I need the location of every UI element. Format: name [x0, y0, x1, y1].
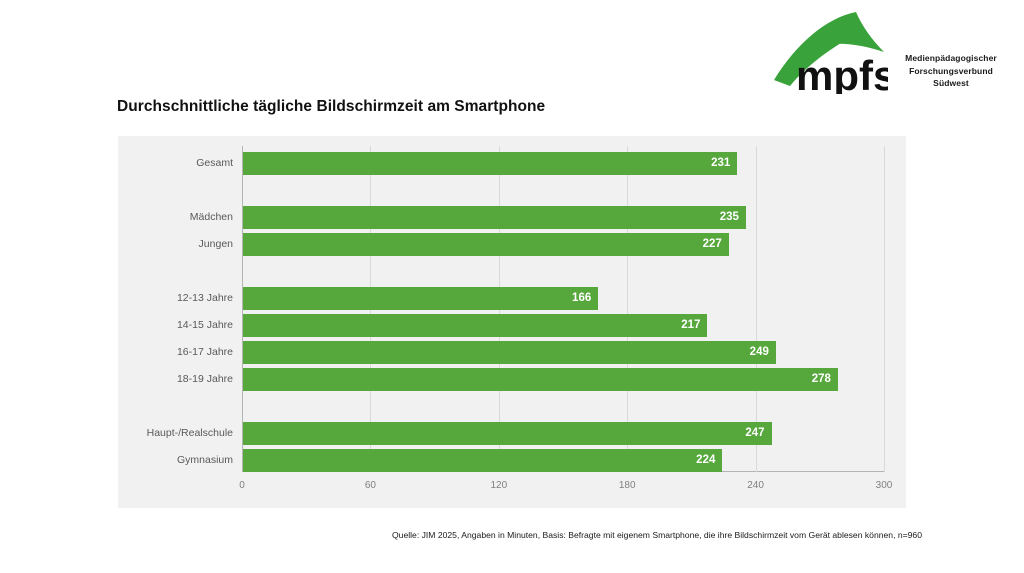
bar[interactable]: 227 — [243, 233, 729, 256]
x-axis-tick-label: 240 — [747, 480, 764, 491]
logo-subtitle-line-3: Südwest — [892, 77, 1010, 90]
chart-title: Durchschnittliche tägliche Bildschirmzei… — [117, 98, 545, 116]
bar[interactable]: 217 — [243, 314, 707, 337]
gridline — [884, 146, 885, 472]
bar[interactable]: 235 — [243, 206, 746, 229]
mpfs-arc-logo: mpfs — [770, 8, 888, 94]
mpfs-logo: mpfs Medienpädagogischer Forschungsverbu… — [770, 8, 1010, 94]
bar-value-label: 166 — [572, 287, 591, 310]
category-label: 12-13 Jahre — [177, 287, 233, 310]
category-label: Gymnasium — [177, 449, 233, 472]
x-axis-tick-label: 60 — [365, 480, 376, 491]
bar[interactable]: 166 — [243, 287, 598, 310]
logo-subtitle-line-2: Forschungsverbund — [892, 65, 1010, 78]
category-label: Haupt-/Realschule — [147, 422, 233, 445]
bar-row: 18-19 Jahre278 — [242, 368, 884, 391]
bar-row: Jungen227 — [242, 233, 884, 256]
bar-row: Gesamt231 — [242, 152, 884, 175]
bar-row: Gymnasium224 — [242, 449, 884, 472]
logo-wordmark: mpfs — [796, 52, 888, 94]
bar-row: 14-15 Jahre217 — [242, 314, 884, 337]
bar[interactable]: 278 — [243, 368, 838, 391]
category-label: Jungen — [199, 233, 233, 256]
bar-value-label: 249 — [750, 341, 769, 364]
chart-panel: 060120180240300Gesamt231Mädchen235Jungen… — [118, 136, 906, 508]
logo-subtitle: Medienpädagogischer Forschungsverbund Sü… — [892, 52, 1010, 90]
bar-row: Haupt-/Realschule247 — [242, 422, 884, 445]
bar-value-label: 231 — [711, 152, 730, 175]
category-label: Gesamt — [196, 152, 233, 175]
x-axis-tick-label: 0 — [239, 480, 245, 491]
x-axis-tick-label: 300 — [876, 480, 893, 491]
category-label: 18-19 Jahre — [177, 368, 233, 391]
source-note: Quelle: JIM 2025, Angaben in Minuten, Ba… — [0, 530, 1024, 540]
bar-value-label: 235 — [720, 206, 739, 229]
category-label: Mädchen — [190, 206, 233, 229]
bar[interactable]: 231 — [243, 152, 737, 175]
category-label: 16-17 Jahre — [177, 341, 233, 364]
bar-value-label: 278 — [812, 368, 831, 391]
category-label: 14-15 Jahre — [177, 314, 233, 337]
x-axis-tick-label: 180 — [619, 480, 636, 491]
logo-subtitle-line-1: Medienpädagogischer — [892, 52, 1010, 65]
bar[interactable]: 224 — [243, 449, 722, 472]
x-axis-tick-label: 120 — [490, 480, 507, 491]
bar-row: Mädchen235 — [242, 206, 884, 229]
plot-area: 060120180240300Gesamt231Mädchen235Jungen… — [242, 146, 884, 472]
bar[interactable]: 249 — [243, 341, 776, 364]
bar-value-label: 217 — [681, 314, 700, 337]
bar-row: 12-13 Jahre166 — [242, 287, 884, 310]
bar-value-label: 247 — [745, 422, 764, 445]
bar-value-label: 224 — [696, 449, 715, 472]
bar-value-label: 227 — [703, 233, 722, 256]
bar-row: 16-17 Jahre249 — [242, 341, 884, 364]
bar[interactable]: 247 — [243, 422, 772, 445]
